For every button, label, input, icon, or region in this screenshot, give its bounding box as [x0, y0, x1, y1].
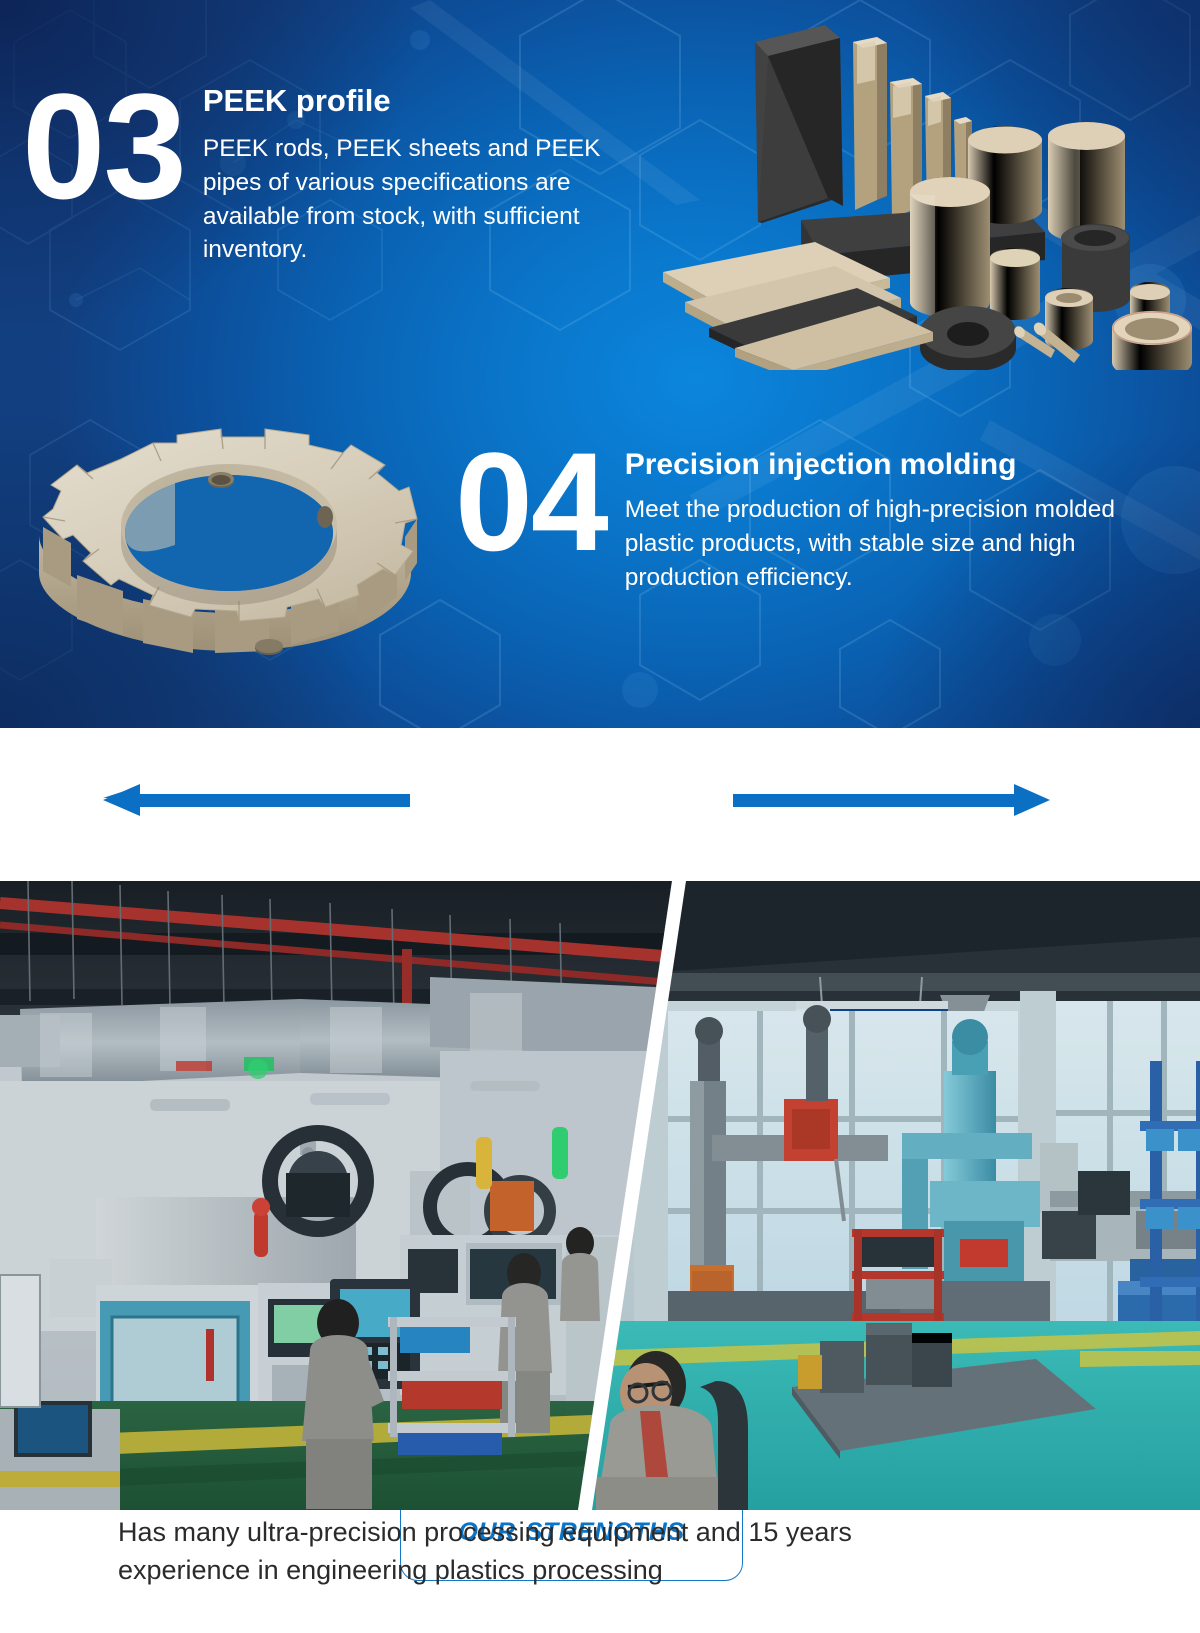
- arrow-head-left: [103, 784, 140, 816]
- tan-cylinder-front: [910, 177, 990, 317]
- workshop-photo-band: [0, 881, 1200, 1510]
- tan-tube-large-lower-right: [1112, 311, 1192, 370]
- tan-cylinder-tall-right: [1048, 122, 1125, 242]
- right-workshop-photo: [580, 881, 1200, 1510]
- peek-gear-ring-image: [25, 395, 455, 685]
- feature-title-03: PEEK profile: [203, 84, 652, 118]
- bottom-caption: Has many ultra-precision processing equi…: [118, 1513, 1118, 1590]
- feature-number-04: 04: [455, 442, 607, 594]
- caption-line-2: experience in engineering plastics proce…: [118, 1551, 1118, 1589]
- strengths-banner: Our strengths: [0, 728, 1200, 880]
- arrow-shaft-right: [733, 794, 1018, 807]
- feature-number-03: 03: [22, 82, 185, 267]
- tan-square-rod-1: [853, 37, 887, 210]
- arrow-head-right: [1014, 784, 1050, 816]
- feature-block-04: 04 Precision injection molding Meet the …: [455, 440, 1175, 594]
- feature-body-03: PEEK rods, PEEK sheets and PEEK pipes of…: [203, 132, 652, 267]
- feature-block-03: 03 PEEK profile PEEK rods, PEEK sheets a…: [22, 78, 652, 267]
- caption-line-1: Has many ultra-precision processing equi…: [118, 1513, 1118, 1551]
- peek-profile-product-image: [625, 10, 1200, 370]
- feature-body-04: Meet the production of high-precision mo…: [625, 493, 1175, 594]
- black-block-tall: [755, 25, 843, 223]
- double-arrow-line: [0, 728, 1200, 880]
- tan-cylinder-small: [990, 248, 1040, 320]
- feature-title-04: Precision injection molding: [625, 448, 1175, 481]
- black-ring-flat: [920, 306, 1016, 370]
- arrow-shaft-left: [138, 794, 410, 807]
- gear-hole-right: [317, 506, 333, 528]
- hero-section: 03 PEEK profile PEEK rods, PEEK sheets a…: [0, 0, 1200, 728]
